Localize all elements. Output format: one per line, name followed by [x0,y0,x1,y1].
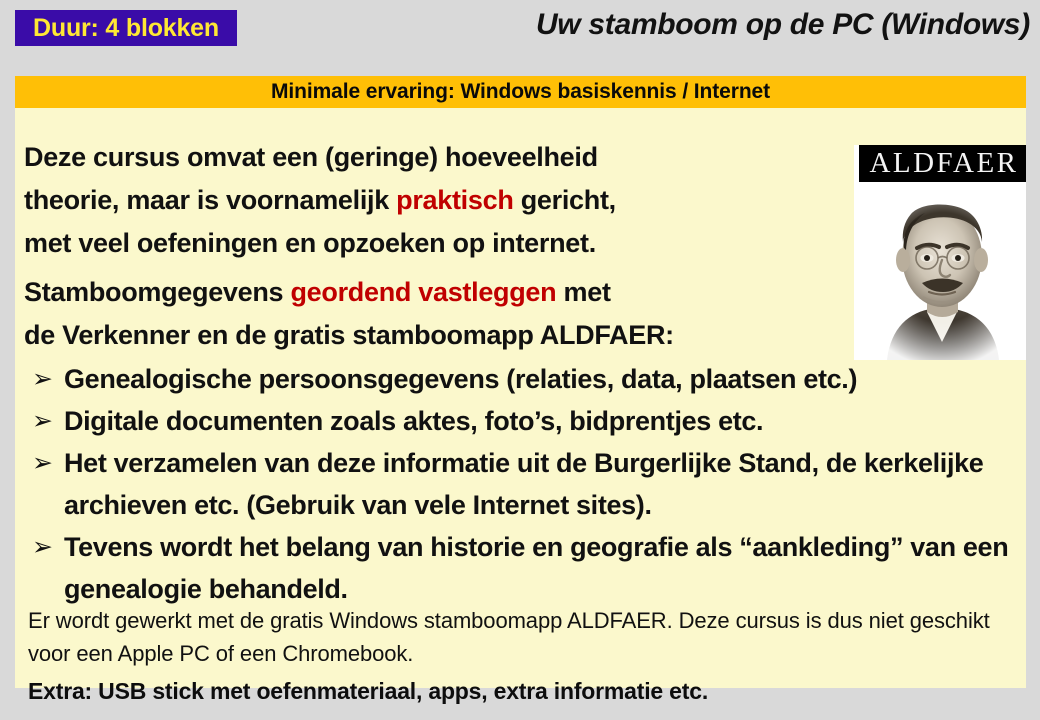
ordering-line-2: de Verkenner en de gratis stamboomapp AL… [24,314,854,357]
intro-line-1: Deze cursus omvat een (geringe) hoeveelh… [24,136,854,179]
aldfaer-logo: ALDFAER [854,145,1026,360]
intro-line-2: theorie, maar is voornamelijk praktisch … [24,179,854,222]
intro-line-2-after: gericht, [514,185,616,215]
extra-note: Extra: USB stick met oefenmateriaal, app… [28,678,1018,705]
prerequisite-banner-label: Minimale ervaring: Windows basiskennis /… [271,80,770,104]
list-item: ➢ Tevens wordt het belang van historie e… [24,526,1019,610]
ordering-line-1: Stamboomgegevens geordend vastleggen met [24,271,854,314]
intro-line-2-before: theorie, maar is voornamelijk [24,185,396,215]
list-item-label: Tevens wordt het belang van historie en … [64,532,1008,604]
list-item-label: Het verzamelen van deze informatie uit d… [64,448,983,520]
list-item: ➢ Genealogische persoonsgegevens (relati… [24,358,1019,400]
ordering-accent-vastleggen: geordend vastleggen [290,277,556,307]
footnote-paragraph: Er wordt gewerkt met de gratis Windows s… [28,604,1018,670]
intro-paragraph: Deze cursus omvat een (geringe) hoeveelh… [24,136,854,265]
duration-badge: Duur: 4 blokken [15,10,237,46]
list-item-label: Digitale documenten zoals aktes, foto’s,… [64,406,763,436]
feature-list: ➢ Genealogische persoonsgegevens (relati… [24,358,1019,610]
list-item-label: Genealogische persoonsgegevens (relaties… [64,364,857,394]
intro-accent-praktisch: praktisch [396,185,513,215]
arrow-bullet-icon: ➢ [32,358,53,400]
aldfaer-portrait-image [859,182,1026,360]
page-title: Uw stamboom op de PC (Windows) [536,8,1030,42]
ordering-line-1-after: met [556,277,610,307]
slide-header: Duur: 4 blokken Uw stamboom op de PC (Wi… [0,0,1040,68]
aldfaer-wordmark-bar: ALDFAER [859,145,1026,182]
list-item: ➢ Digitale documenten zoals aktes, foto’… [24,400,1019,442]
ordering-line-1-before: Stamboomgegevens [24,277,290,307]
content-panel: Minimale ervaring: Windows basiskennis /… [15,76,1026,688]
arrow-bullet-icon: ➢ [32,442,53,484]
list-item: ➢ Het verzamelen van deze informatie uit… [24,442,1019,526]
intro-line-3: met veel oefeningen en opzoeken op inter… [24,222,854,265]
ordering-paragraph: Stamboomgegevens geordend vastleggen met… [24,271,854,357]
aldfaer-wordmark-text: ALDFAER [866,147,1018,180]
prerequisite-banner: Minimale ervaring: Windows basiskennis /… [15,76,1026,108]
arrow-bullet-icon: ➢ [32,526,53,568]
arrow-bullet-icon: ➢ [32,400,53,442]
duration-badge-label: Duur: 4 blokken [33,14,219,43]
